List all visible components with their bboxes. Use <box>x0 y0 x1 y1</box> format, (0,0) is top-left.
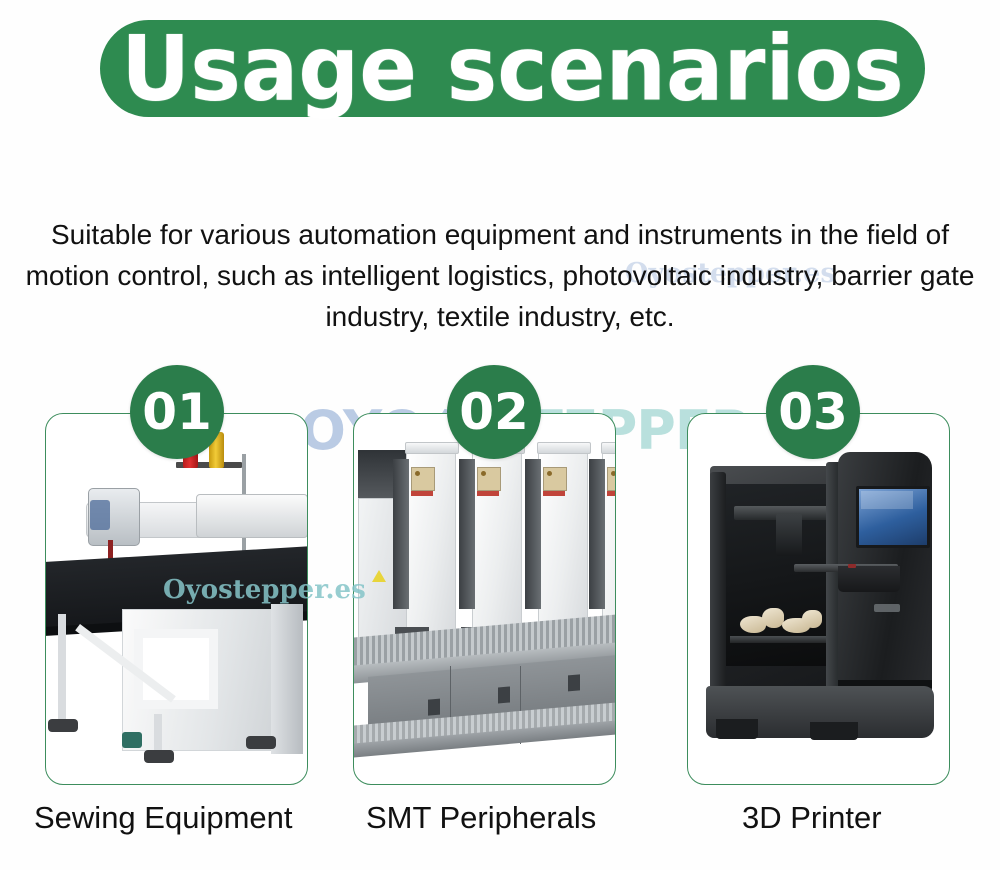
scenario-card-smt-peripherals[interactable]: Row of white SMT / printing press machin… <box>353 413 616 785</box>
printed-parts <box>736 604 834 638</box>
scenario-photo-sewing-equipment <box>46 414 307 784</box>
scenario-card-sewing-equipment[interactable]: Industrial automated pattern sewing mach… <box>45 413 308 785</box>
scenario-photo-smt-peripherals <box>354 414 615 784</box>
scenario-caption-3d-printer: 3D Printer <box>742 800 882 836</box>
scenario-caption-sewing-equipment: Sewing Equipment <box>34 800 293 836</box>
scenario-badge-01: 01 <box>130 365 224 459</box>
intro-paragraph: Suitable for various automation equipmen… <box>20 214 980 337</box>
printer-lcd-screen <box>856 486 930 548</box>
page-title: Usage scenarios <box>121 24 904 114</box>
scenario-badge-02: 02 <box>447 365 541 459</box>
scenario-caption-smt-peripherals: SMT Peripherals <box>366 800 596 836</box>
scenario-badge-03: 03 <box>766 365 860 459</box>
scenario-card-3d-printer[interactable]: Large black industrial 3D printer with b… <box>687 413 950 785</box>
scenario-photo-3d-printer <box>688 414 949 784</box>
page-title-banner: Usage scenarios <box>100 20 925 117</box>
